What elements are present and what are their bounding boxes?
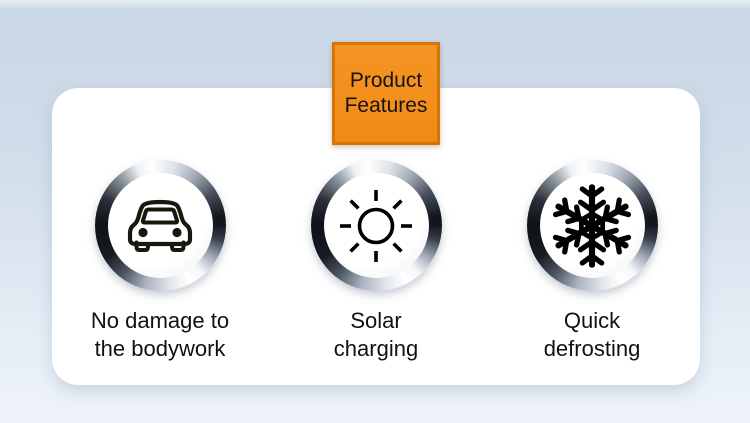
- caption-line-2: charging: [334, 335, 418, 363]
- feature-item-solar-charging: Solar charging: [271, 160, 481, 362]
- car-front-icon: [95, 160, 226, 291]
- feature-caption: Solar charging: [334, 307, 418, 362]
- caption-line-1: No damage to: [91, 307, 229, 335]
- icon-ring: [527, 160, 658, 291]
- caption-line-1: Solar: [334, 307, 418, 335]
- badge-line-2: Features: [345, 94, 428, 119]
- feature-item-no-damage: No damage to the bodywork: [55, 160, 265, 362]
- product-features-badge: Product Features: [332, 42, 440, 145]
- caption-line-2: the bodywork: [91, 335, 229, 363]
- snowflake-icon: [527, 160, 658, 291]
- feature-item-quick-defrosting: Quick defrosting: [487, 160, 697, 362]
- caption-line-2: defrosting: [544, 335, 641, 363]
- icon-ring: [95, 160, 226, 291]
- feature-caption: No damage to the bodywork: [91, 307, 229, 362]
- badge-line-1: Product: [350, 69, 422, 94]
- icon-ring: [311, 160, 442, 291]
- product-features-graphic: Product Features No damage to: [0, 0, 750, 423]
- feature-caption: Quick defrosting: [544, 307, 641, 362]
- caption-line-1: Quick: [544, 307, 641, 335]
- feature-list: No damage to the bodywork: [52, 160, 700, 362]
- sun-icon: [311, 160, 442, 291]
